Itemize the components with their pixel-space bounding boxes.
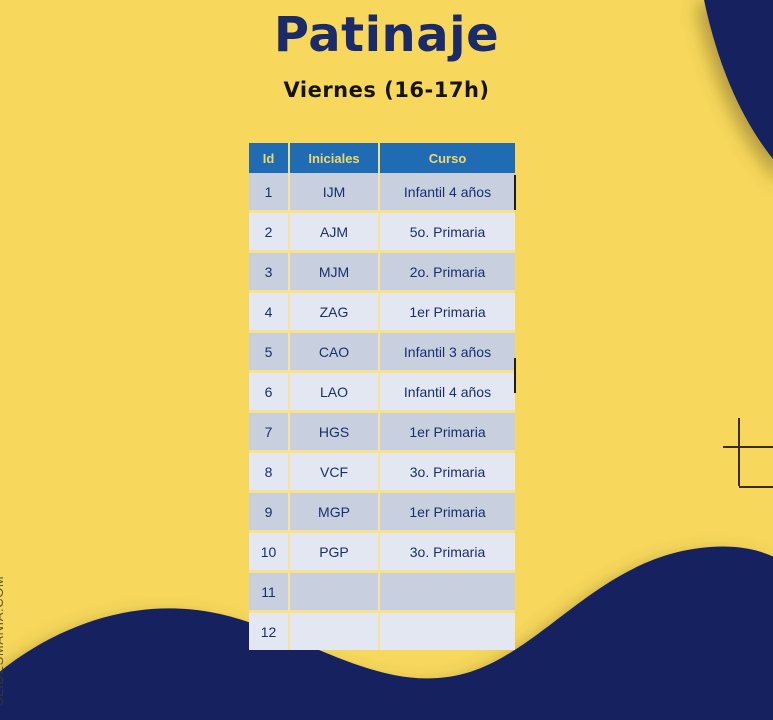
table-header: Id Iniciales Curso [249, 143, 515, 173]
slide-canvas: SLIDESMANIA.COM Patinaje Viernes (16-17h… [0, 0, 773, 720]
cell-edge-caret-row1 [514, 175, 516, 210]
cell-curso[interactable]: 1er Primaria [380, 493, 515, 533]
plus-mark-horizontal [723, 446, 773, 448]
page-title: Patinaje [0, 6, 773, 64]
column-header-id[interactable]: Id [249, 143, 290, 173]
cell-iniciales[interactable]: LAO [290, 373, 380, 413]
table-row[interactable]: 4ZAG1er Primaria [249, 293, 515, 333]
cell-id[interactable]: 2 [249, 213, 290, 253]
table-row[interactable]: 5CAOInfantil 3 años [249, 333, 515, 373]
page-subtitle: Viernes (16-17h) [0, 76, 773, 104]
cell-iniciales[interactable]: VCF [290, 453, 380, 493]
cell-id[interactable]: 6 [249, 373, 290, 413]
table-row[interactable]: 10PGP3o. Primaria [249, 533, 515, 573]
table-row[interactable]: 6LAOInfantil 4 años [249, 373, 515, 413]
cell-curso[interactable]: Infantil 4 años [380, 373, 515, 413]
cell-iniciales[interactable]: IJM [290, 173, 380, 213]
cell-curso[interactable] [380, 613, 515, 650]
table-row[interactable]: 1IJMInfantil 4 años [249, 173, 515, 213]
table-row[interactable]: 12 [249, 613, 515, 650]
cell-curso[interactable]: 1er Primaria [380, 293, 515, 333]
table-row[interactable]: 7HGS1er Primaria [249, 413, 515, 453]
cell-id[interactable]: 3 [249, 253, 290, 293]
table-row[interactable]: 8VCF3o. Primaria [249, 453, 515, 493]
column-header-iniciales[interactable]: Iniciales [290, 143, 380, 173]
dash-mark [739, 486, 773, 488]
cell-id[interactable]: 8 [249, 453, 290, 493]
cell-curso[interactable]: Infantil 3 años [380, 333, 515, 373]
table-row[interactable]: 11 [249, 573, 515, 613]
cell-curso[interactable]: Infantil 4 años [380, 173, 515, 213]
cell-curso[interactable] [380, 573, 515, 613]
cell-edge-caret-row6 [514, 358, 516, 393]
cell-id[interactable]: 5 [249, 333, 290, 373]
cell-iniciales[interactable]: CAO [290, 333, 380, 373]
cell-iniciales[interactable]: PGP [290, 533, 380, 573]
cell-iniciales[interactable]: HGS [290, 413, 380, 453]
cell-iniciales[interactable]: MGP [290, 493, 380, 533]
cell-id[interactable]: 4 [249, 293, 290, 333]
table-body: 1IJMInfantil 4 años2AJM5o. Primaria3MJM2… [249, 173, 515, 650]
cell-id[interactable]: 10 [249, 533, 290, 573]
table-row[interactable]: 3MJM2o. Primaria [249, 253, 515, 293]
cell-curso[interactable]: 3o. Primaria [380, 533, 515, 573]
cell-curso[interactable]: 2o. Primaria [380, 253, 515, 293]
column-header-curso[interactable]: Curso [380, 143, 515, 173]
cell-curso[interactable]: 3o. Primaria [380, 453, 515, 493]
cell-id[interactable]: 9 [249, 493, 290, 533]
cell-id[interactable]: 7 [249, 413, 290, 453]
table-header-row: Id Iniciales Curso [249, 143, 515, 173]
cell-id[interactable]: 12 [249, 613, 290, 650]
cell-id[interactable]: 1 [249, 173, 290, 213]
plus-mark-vertical [738, 418, 740, 486]
table-row[interactable]: 2AJM5o. Primaria [249, 213, 515, 253]
cell-iniciales[interactable]: AJM [290, 213, 380, 253]
cell-iniciales[interactable] [290, 573, 380, 613]
slidesmania-watermark: SLIDESMANIA.COM [0, 576, 6, 706]
cell-iniciales[interactable]: MJM [290, 253, 380, 293]
cell-iniciales[interactable]: ZAG [290, 293, 380, 333]
cell-curso[interactable]: 1er Primaria [380, 413, 515, 453]
cell-id[interactable]: 11 [249, 573, 290, 613]
cell-curso[interactable]: 5o. Primaria [380, 213, 515, 253]
table-row[interactable]: 9MGP1er Primaria [249, 493, 515, 533]
cell-iniciales[interactable] [290, 613, 380, 650]
roster-table: Id Iniciales Curso 1IJMInfantil 4 años2A… [249, 143, 515, 650]
